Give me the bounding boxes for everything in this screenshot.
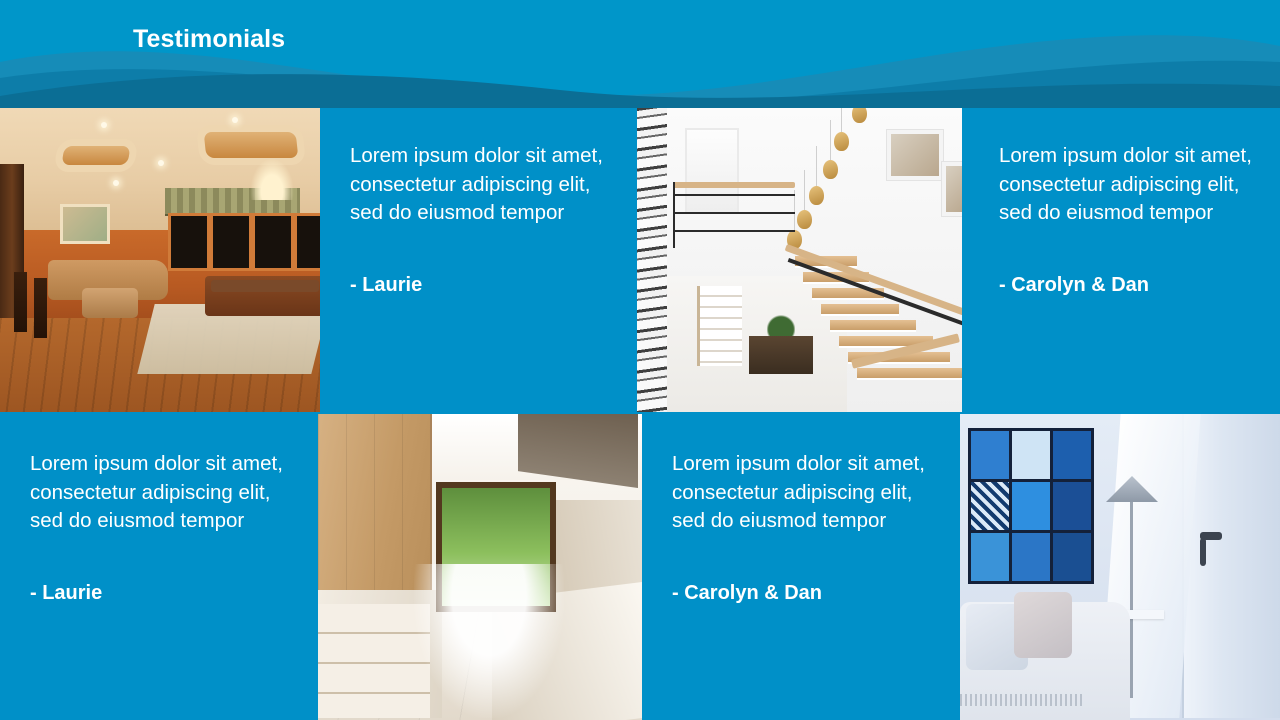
testimonial-quote: Lorem ipsum dolor sit amet, consectetur … (672, 450, 942, 536)
testimonial-photo-top-right (637, 108, 962, 412)
testimonial-quote: Lorem ipsum dolor sit amet, consectetur … (999, 142, 1262, 228)
testimonial-photo-top-left (0, 108, 320, 412)
testimonials-grid: Lorem ipsum dolor sit amet, consectetur … (0, 108, 1280, 720)
game-room-photo (0, 108, 320, 412)
testimonial-attribution: - Carolyn & Dan (672, 582, 942, 605)
kitchen-photo (318, 414, 642, 720)
testimonial-quote: Lorem ipsum dolor sit amet, consectetur … (350, 142, 619, 228)
testimonial-attribution: - Laurie (30, 582, 300, 605)
blue-doors-artwork (968, 428, 1094, 584)
testimonial-attribution: - Laurie (350, 274, 619, 297)
page-title: Testimonials (133, 25, 285, 54)
header-wave-graphic (0, 0, 1280, 108)
testimonial-text-top-right: Lorem ipsum dolor sit amet, consectetur … (962, 108, 1280, 412)
testimonial-photo-bottom-right (960, 414, 1280, 720)
staircase-photo (637, 108, 962, 412)
slide-header-banner: Testimonials (0, 0, 1280, 108)
testimonial-text-bottom-left: Lorem ipsum dolor sit amet, consectetur … (0, 414, 318, 720)
testimonial-photo-bottom-left (318, 414, 642, 720)
testimonial-text-top-left: Lorem ipsum dolor sit amet, consectetur … (320, 108, 637, 412)
testimonials-slide: Testimonials (0, 0, 1280, 720)
testimonial-attribution: - Carolyn & Dan (999, 274, 1262, 297)
living-room-photo (960, 414, 1280, 720)
testimonial-text-bottom-right: Lorem ipsum dolor sit amet, consectetur … (642, 414, 960, 720)
testimonial-quote: Lorem ipsum dolor sit amet, consectetur … (30, 450, 300, 536)
